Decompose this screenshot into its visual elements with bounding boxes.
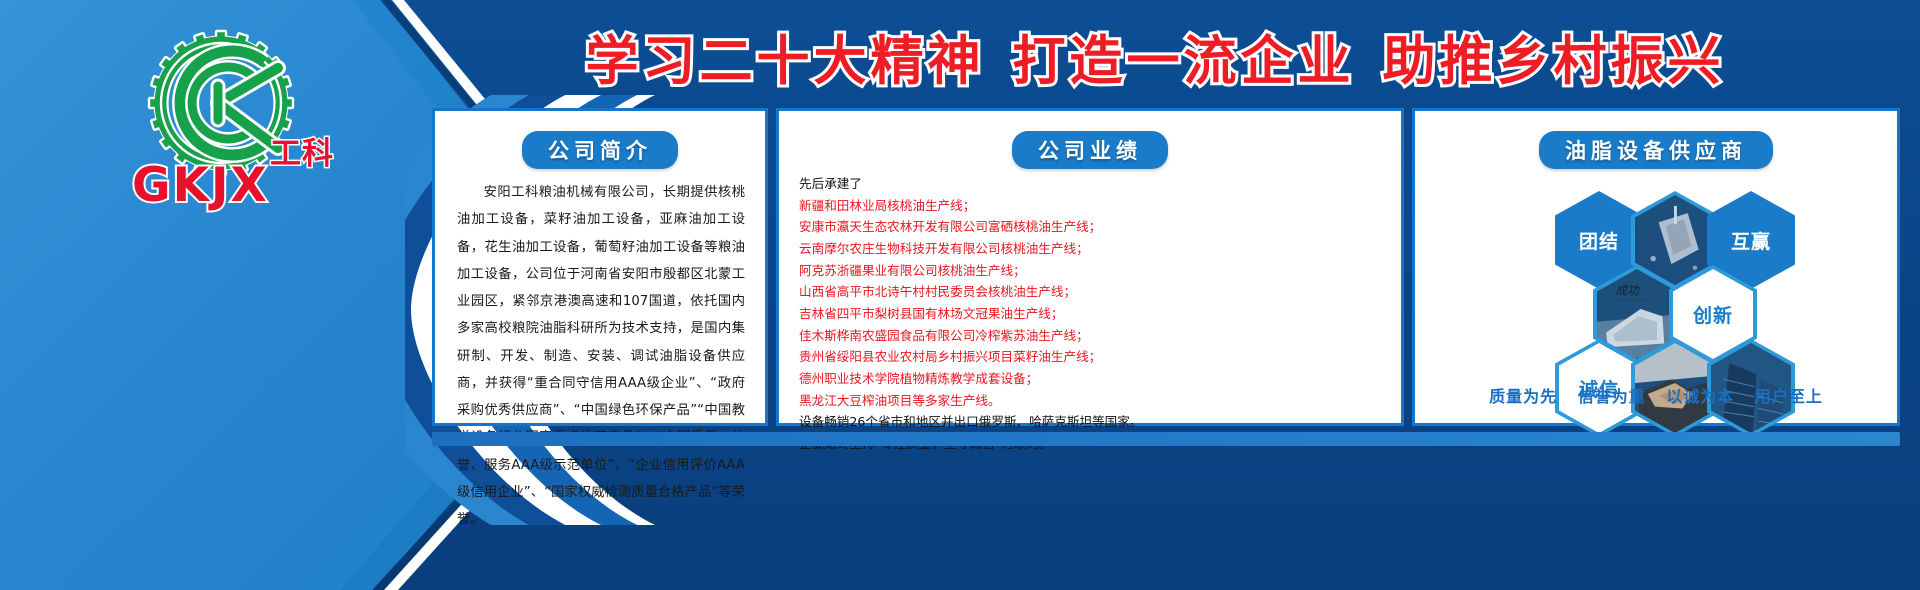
slogan-part-4: 用户至上 xyxy=(1755,387,1823,406)
supplier-slogan: 质量为先 信誉为重 以诚为本 用户至上 xyxy=(1415,383,1897,407)
performance-item: 新疆和田林业局核桃油生产线； xyxy=(799,195,1385,217)
performance-item: 贵州省绥阳县农业农村局乡村振兴项目菜籽油生产线； xyxy=(799,346,1385,368)
panel-performance-badge: 公司业绩 xyxy=(1012,131,1168,169)
performance-item: 山西省高平市北诗午村村民委员会核桃油生产线； xyxy=(799,281,1385,303)
performance-item: 云南摩尔农庄生物科技开发有限公司核桃油生产线； xyxy=(799,238,1385,260)
bottom-accent-strip xyxy=(432,432,1900,446)
slogan-part-3: 以诚为本 xyxy=(1666,387,1734,406)
hex-label: 创新 xyxy=(1693,301,1733,328)
panel-company-intro: 公司简介 安阳工科粮油机械有限公司，长期提供核桃油加工设备，菜籽油加工设备，亚麻… xyxy=(432,108,768,426)
panel-intro-badge: 公司简介 xyxy=(522,131,678,169)
panel-company-performance: 公司业绩 先后承建了 新疆和田林业局核桃油生产线； 安康市瀛天生态农林开发有限公… xyxy=(776,108,1404,426)
panel-supplier: 油脂设备供应商 团结 xyxy=(1412,108,1900,426)
performance-item: 佳木斯桦南农盛园食品有限公司冷榨紫苏油生产线； xyxy=(799,325,1385,347)
page-title: 学习二十大精神 打造一流企业 助推乡村振兴 xyxy=(420,18,1890,96)
panel-supplier-badge: 油脂设备供应商 xyxy=(1539,131,1773,169)
svg-text:成功: 成功 xyxy=(1615,283,1640,297)
performance-item: 黑龙江大豆榨油项目等多家生产线。 xyxy=(799,390,1385,412)
hex-label: 团结 xyxy=(1579,227,1619,254)
performance-footer: 设备畅销26个省市和地区并出口俄罗斯、哈萨克斯坦等国家。 xyxy=(799,411,1385,433)
company-logo: 工科 GKJX xyxy=(128,28,328,208)
slogan-part-1: 质量为先 xyxy=(1489,387,1557,406)
hexagon-honeycomb: 团结 xyxy=(1415,173,1897,373)
panel-performance-body: 先后承建了 新疆和田林业局核桃油生产线； 安康市瀛天生态农林开发有限公司富硒核桃… xyxy=(799,173,1385,455)
title-part-3: 助推乡村振兴 xyxy=(1383,19,1725,95)
logo-chinese-text: 工科 xyxy=(270,128,334,173)
panel-intro-body: 安阳工科粮油机械有限公司，长期提供核桃油加工设备，菜籽油加工设备，亚麻油加工设备… xyxy=(457,179,745,533)
title-part-1: 学习二十大精神 xyxy=(586,19,985,95)
performance-item: 安康市瀛天生态农林开发有限公司富硒核桃油生产线； xyxy=(799,216,1385,238)
performance-item: 吉林省四平市梨树县国有林场文冠果油生产线； xyxy=(799,303,1385,325)
performance-lead: 先后承建了 xyxy=(799,173,1385,195)
performance-item: 阿克苏浙疆果业有限公司核桃油生产线； xyxy=(799,260,1385,282)
performance-item: 德州职业技术学院植物精炼教学成套设备； xyxy=(799,368,1385,390)
logo-latin-text: GKJX xyxy=(132,158,269,213)
poster-banner: 工科 GKJX 学习二十大精神 打造一流企业 助推乡村振兴 公司简介 安阳工科粮… xyxy=(0,0,1920,590)
panels-row: 公司简介 安阳工科粮油机械有限公司，长期提供核桃油加工设备，菜籽油加工设备，亚麻… xyxy=(432,108,1900,426)
slogan-part-2: 信誉为重 xyxy=(1578,387,1646,406)
title-part-2: 打造一流企业 xyxy=(1013,19,1355,95)
hex-label: 互赢 xyxy=(1731,227,1771,254)
